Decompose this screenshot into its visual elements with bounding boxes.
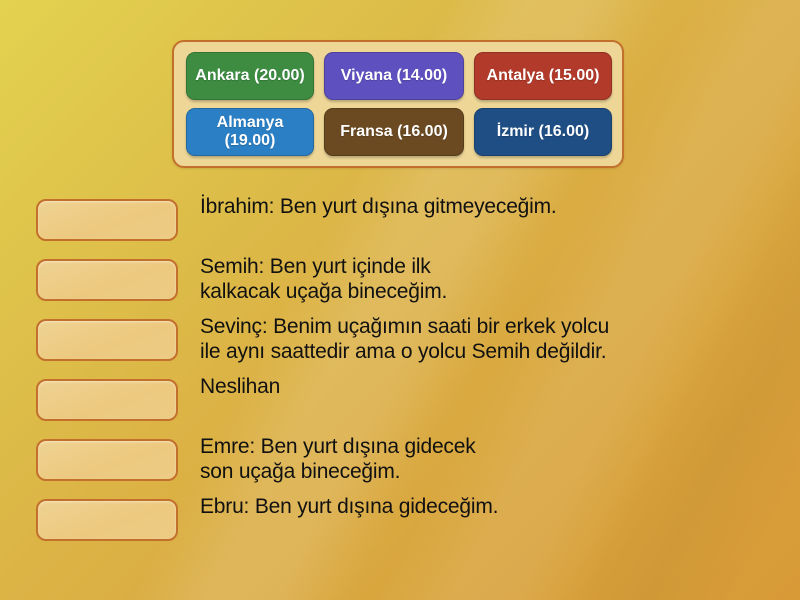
answer-row: Emre: Ben yurt dışına gidecek son uçağa … (0, 433, 800, 493)
answer-row: Ebru: Ben yurt dışına gideceğim. (0, 493, 800, 553)
word-bank-panel: Ankara (20.00) Viyana (14.00) Antalya (1… (172, 40, 624, 168)
answer-row: Neslihan (0, 373, 800, 433)
answer-text-4: Neslihan (200, 373, 800, 400)
answer-row: Sevinç: Benim uçağımın saati bir erkek y… (0, 313, 800, 373)
tile-ankara[interactable]: Ankara (20.00) (186, 52, 314, 100)
drop-zone-2[interactable] (36, 259, 178, 301)
answer-text-2: Semih: Ben yurt içinde ilk kalkacak uçağ… (200, 253, 800, 305)
tile-izmir[interactable]: İzmir (16.00) (474, 108, 612, 156)
answer-list: İbrahim: Ben yurt dışına gitmeyeceğim. S… (0, 193, 800, 553)
drop-zone-5[interactable] (36, 439, 178, 481)
tile-fransa[interactable]: Fransa (16.00) (324, 108, 464, 156)
answer-row: İbrahim: Ben yurt dışına gitmeyeceğim. (0, 193, 800, 253)
answer-text-5: Emre: Ben yurt dışına gidecek son uçağa … (200, 433, 800, 485)
drop-zone-6[interactable] (36, 499, 178, 541)
answer-text-6: Ebru: Ben yurt dışına gideceğim. (200, 493, 800, 520)
word-bank-row-1: Ankara (20.00) Viyana (14.00) Antalya (1… (186, 52, 610, 100)
drop-zone-4[interactable] (36, 379, 178, 421)
drop-zone-1[interactable] (36, 199, 178, 241)
tile-antalya[interactable]: Antalya (15.00) (474, 52, 612, 100)
answer-text-1: İbrahim: Ben yurt dışına gitmeyeceğim. (200, 193, 800, 220)
tile-viyana[interactable]: Viyana (14.00) (324, 52, 464, 100)
answer-text-3: Sevinç: Benim uçağımın saati bir erkek y… (200, 313, 800, 365)
answer-row: Semih: Ben yurt içinde ilk kalkacak uçağ… (0, 253, 800, 313)
tile-almanya[interactable]: Almanya (19.00) (186, 108, 314, 156)
drop-zone-3[interactable] (36, 319, 178, 361)
word-bank-row-2: Almanya (19.00) Fransa (16.00) İzmir (16… (186, 108, 610, 156)
